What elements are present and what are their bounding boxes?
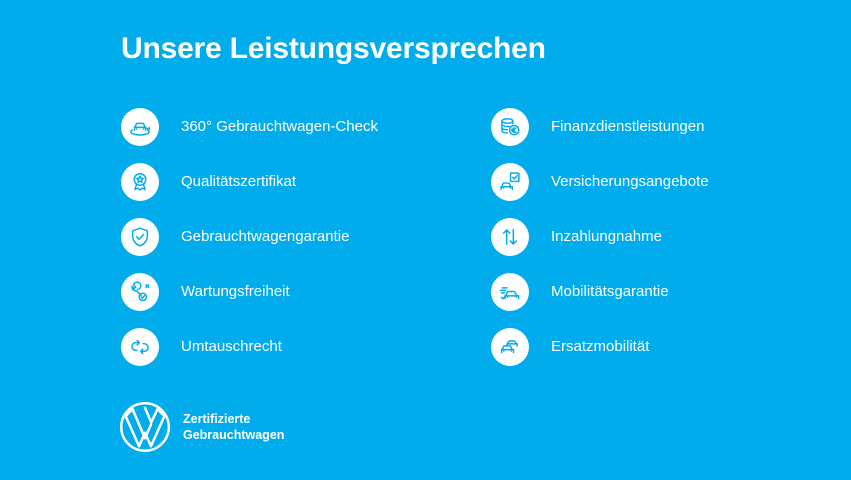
promise-item-car-360-check[interactable]: 360° Gebrauchtwagen-Check	[121, 108, 451, 163]
promise-item-replacement-mobility[interactable]: Ersatzmobilität	[491, 328, 821, 383]
promise-item-financial-services[interactable]: Finanzdienstleistungen	[491, 108, 821, 163]
promise-label: Mobilitätsgarantie	[551, 273, 669, 311]
brand-tagline-line1: Zertifizierte	[183, 411, 284, 427]
promise-label: Versicherungsangebote	[551, 163, 709, 201]
promise-item-mobility-guarantee[interactable]: Mobilitätsgarantie	[491, 273, 821, 328]
promise-label: Finanzdienstleistungen	[551, 108, 704, 146]
promise-item-quality-certificate[interactable]: Qualitätszertifikat	[121, 163, 451, 218]
two-cars-icon	[491, 328, 529, 366]
exchange-arrows-icon	[121, 328, 159, 366]
brand-tagline: Zertifizierte Gebrauchtwagen	[183, 411, 284, 443]
brand-tagline-line2: Gebrauchtwagen	[183, 427, 284, 443]
car-document-check-icon	[491, 163, 529, 201]
page-title: Unsere Leistungsversprechen	[121, 32, 546, 66]
slide-canvas: Unsere Leistungsversprechen 360° Gebrauc…	[0, 0, 851, 480]
promise-item-trade-in[interactable]: Inzahlungnahme	[491, 218, 821, 273]
wrench-check-icon	[121, 273, 159, 311]
brand-lockup: Zertifizierte Gebrauchtwagen	[118, 400, 284, 454]
promise-item-exchange-right[interactable]: Umtauschrecht	[121, 328, 451, 383]
promise-item-insurance-offers[interactable]: Versicherungsangebote	[491, 163, 821, 218]
promise-label: Gebrauchtwagengarantie	[181, 218, 349, 256]
promise-item-maintenance-free[interactable]: Wartungsfreiheit	[121, 273, 451, 328]
volkswagen-logo	[118, 400, 172, 454]
promise-label: Umtauschrecht	[181, 328, 282, 366]
coins-euro-icon	[491, 108, 529, 146]
car-motion-check-icon	[491, 273, 529, 311]
award-rosette-icon	[121, 163, 159, 201]
promise-label: Qualitätszertifikat	[181, 163, 296, 201]
car-360-check-icon	[121, 108, 159, 146]
promise-column-right: Finanzdienstleistungen Versicherungsange…	[491, 108, 821, 383]
promise-label: Inzahlungnahme	[551, 218, 662, 256]
up-down-arrows-icon	[491, 218, 529, 256]
promise-item-used-car-warranty[interactable]: Gebrauchtwagengarantie	[121, 218, 451, 273]
promise-label: Ersatzmobilität	[551, 328, 649, 366]
promise-column-left: 360° Gebrauchtwagen-Check Qualitätszerti…	[121, 108, 451, 383]
promise-label: Wartungsfreiheit	[181, 273, 290, 311]
shield-check-icon	[121, 218, 159, 256]
promise-label: 360° Gebrauchtwagen-Check	[181, 108, 378, 146]
